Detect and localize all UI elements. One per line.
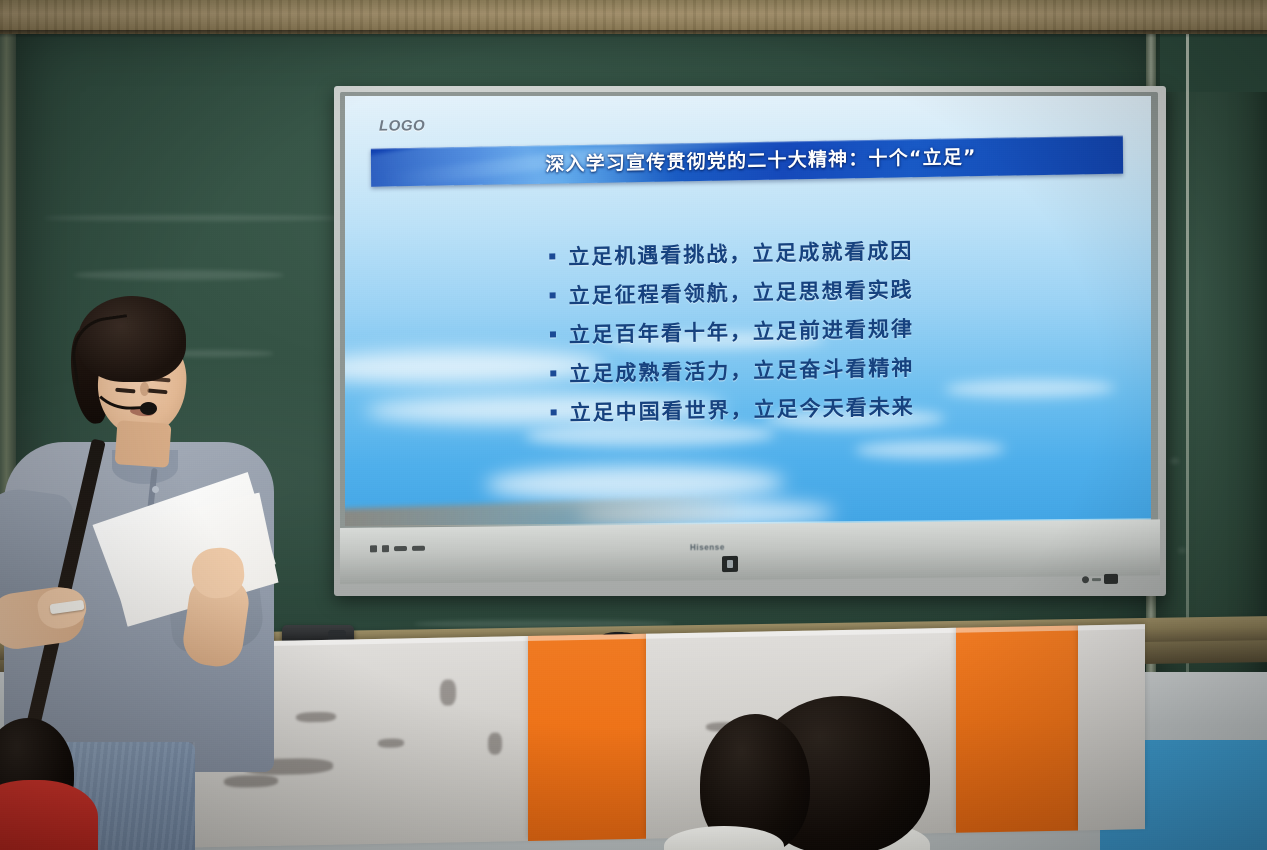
usb-port-icon[interactable] bbox=[1082, 576, 1089, 583]
chalkboard-right-panel bbox=[1152, 18, 1267, 698]
display-control-buttons[interactable] bbox=[370, 544, 434, 554]
bullet-square-icon bbox=[549, 253, 555, 259]
power-button-icon[interactable] bbox=[370, 545, 377, 552]
presentation-screen[interactable]: LOGO 深入学习宣传贯彻党的二十大精神：十个“立足” 立足机遇看挑战，立足成就… bbox=[345, 96, 1151, 526]
input-panel-icon[interactable] bbox=[1104, 574, 1118, 584]
bullet-text: 立足成熟看活力，立足奋斗看精神 bbox=[569, 352, 914, 388]
podium-panel-orange bbox=[528, 634, 646, 841]
bullet-text: 立足机遇看挑战，立足成就看成因 bbox=[568, 235, 913, 271]
bullet-text: 立足百年看十年，立足前进看规律 bbox=[569, 313, 914, 349]
hdmi-port-icon[interactable] bbox=[1092, 578, 1101, 581]
slide-surface: LOGO 深入学习宣传贯彻党的二十大精神：十个“立足” 立足机遇看挑战，立足成就… bbox=[345, 96, 1151, 526]
slide-title-bar: 深入学习宣传贯彻党的二十大精神：十个“立足” bbox=[371, 136, 1123, 187]
podium-panel-orange bbox=[956, 625, 1078, 832]
board-top-wood-frame bbox=[0, 0, 1267, 34]
list-item: 立足机遇看挑战，立足成就看成因 bbox=[549, 231, 1109, 271]
bullet-square-icon bbox=[550, 331, 556, 337]
chalkboard-divider-highlight bbox=[1186, 18, 1189, 690]
bullet-square-icon bbox=[551, 409, 557, 415]
ir-sensor-icon bbox=[722, 556, 738, 572]
classroom-photo: LOGO 深入学习宣传贯彻党的二十大精神：十个“立足” 立足机遇看挑战，立足成就… bbox=[0, 0, 1267, 850]
board-frame-shadow bbox=[0, 30, 1267, 38]
list-item: 立足征程看领航，立足思想看实践 bbox=[550, 270, 1110, 310]
cloud-shape bbox=[855, 440, 1005, 459]
display-bottom-bezel bbox=[340, 519, 1160, 584]
menu-button-icon[interactable] bbox=[382, 545, 389, 552]
volume-button-icon[interactable] bbox=[394, 546, 407, 551]
display-brand-label: Hisense bbox=[690, 543, 725, 552]
microphone-icon bbox=[140, 402, 157, 415]
list-item: 立足中国看世界，立足今天看未来 bbox=[551, 387, 1111, 427]
slide-logo: LOGO bbox=[379, 117, 425, 134]
display-side-ports[interactable] bbox=[1082, 572, 1130, 587]
slide-bullet-list: 立足机遇看挑战，立足成就看成因 立足征程看领航，立足思想看实践 立足百年看十年，… bbox=[549, 231, 1111, 436]
bullet-text: 立足征程看领航，立足思想看实践 bbox=[568, 274, 913, 310]
bullet-square-icon bbox=[550, 370, 556, 376]
list-item: 立足成熟看活力，立足奋斗看精神 bbox=[550, 348, 1110, 388]
podium-panel-gray bbox=[1078, 624, 1145, 830]
source-button-icon[interactable] bbox=[412, 546, 425, 551]
presenter-neck bbox=[115, 420, 172, 468]
bullet-text: 立足中国看世界，立足今天看未来 bbox=[570, 391, 915, 427]
bullet-square-icon bbox=[550, 292, 556, 298]
slide-horizon-haze bbox=[345, 495, 745, 526]
list-item: 立足百年看十年，立足前进看规律 bbox=[550, 309, 1110, 349]
slide-title: 深入学习宣传贯彻党的二十大精神：十个“立足” bbox=[371, 136, 1123, 187]
